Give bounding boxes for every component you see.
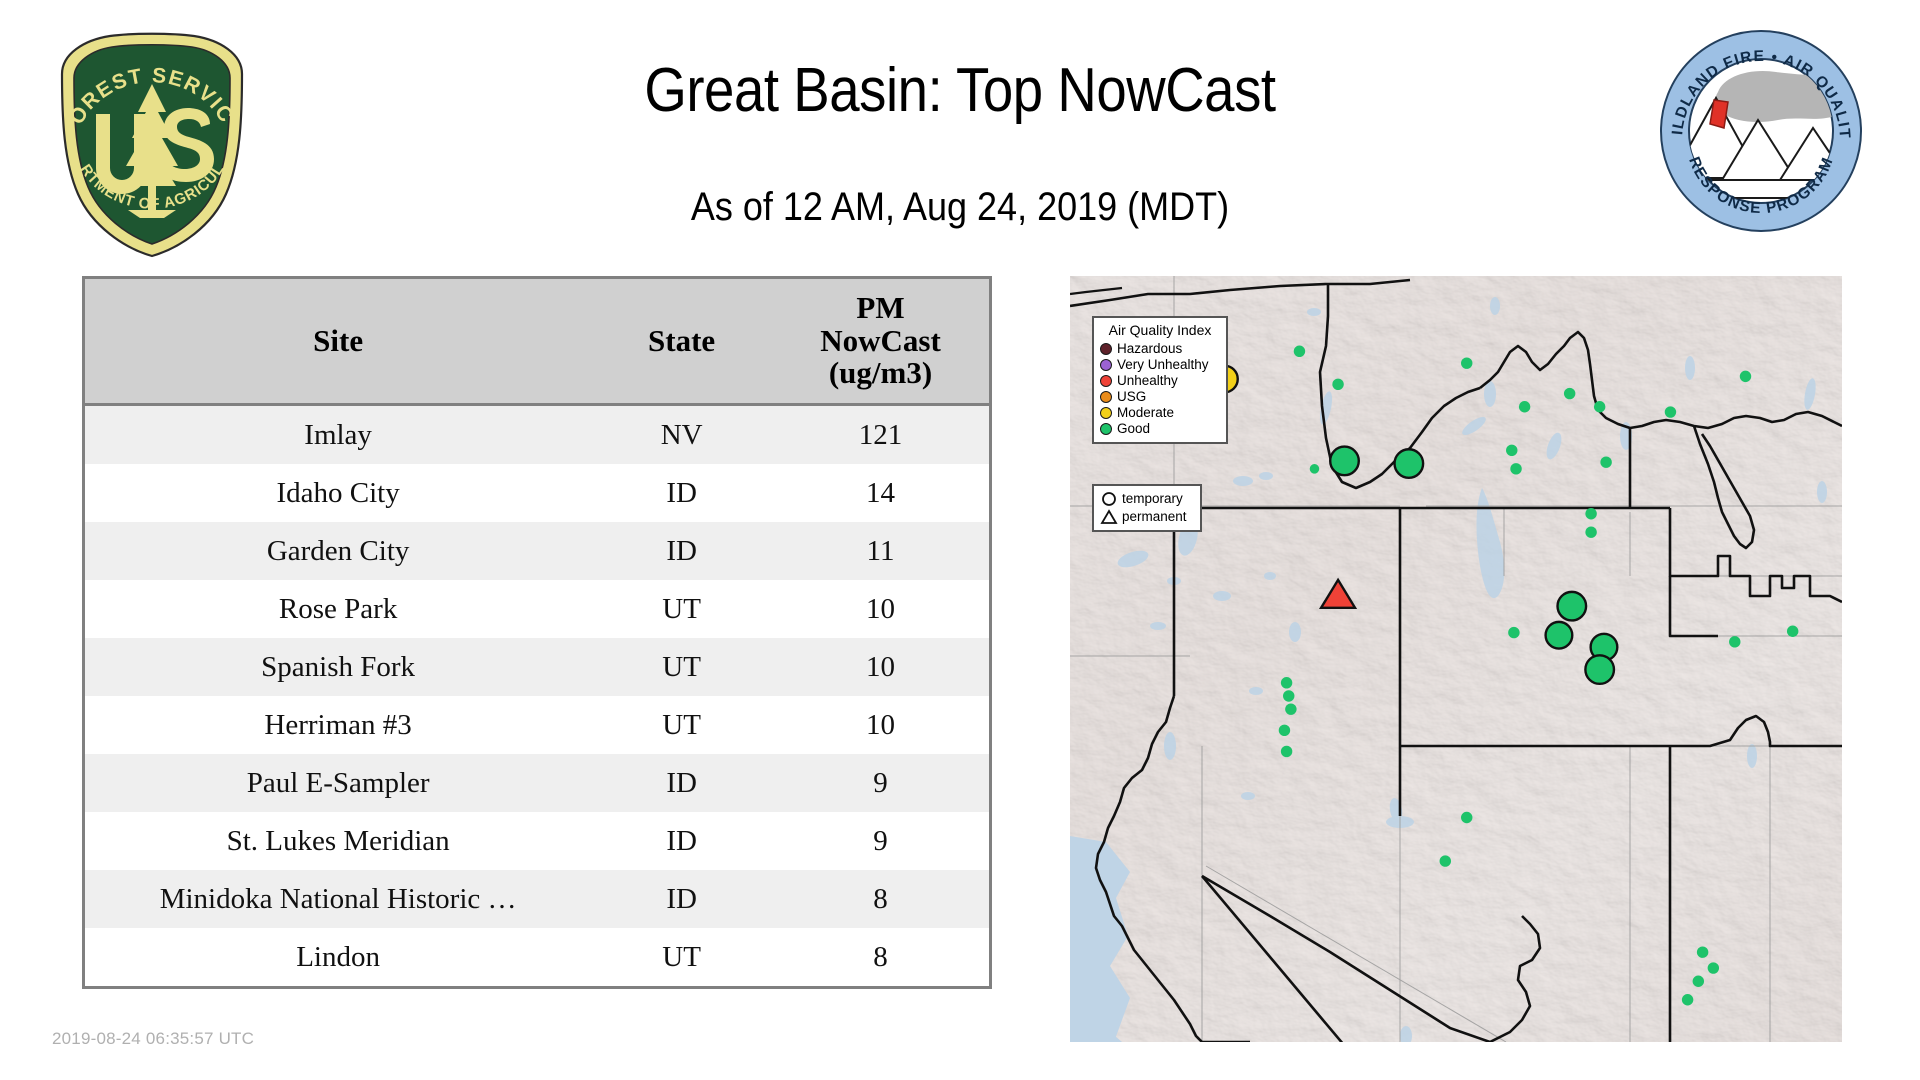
- cell-state: ID: [591, 464, 772, 522]
- monitor-marker[interactable]: [1564, 388, 1575, 399]
- legend-item-hazardous: Hazardous: [1100, 341, 1220, 357]
- legend-item-very-unhealthy: Very Unhealthy: [1100, 357, 1220, 373]
- monitor-marker[interactable]: [1585, 508, 1596, 519]
- monitor-marker[interactable]: [1682, 994, 1693, 1005]
- column-header-site[interactable]: Site: [85, 279, 591, 405]
- monitor-type-legend: temporary permanent: [1092, 484, 1202, 532]
- legend-label-very-unhealthy: Very Unhealthy: [1117, 357, 1209, 373]
- cell-state: UT: [591, 580, 772, 638]
- legend-item-temporary: temporary: [1100, 490, 1194, 508]
- cell-state: NV: [591, 405, 772, 465]
- pm-header-line-3: (ug/m3): [772, 357, 989, 390]
- table-header-row: Site State PM NowCast (ug/m3): [85, 279, 989, 405]
- table-row[interactable]: Imlay NV 121: [85, 405, 989, 465]
- monitor-marker[interactable]: [1279, 725, 1290, 736]
- table-row[interactable]: Herriman #3 UT 10: [85, 696, 989, 754]
- table-row[interactable]: Paul E-Sampler ID 9: [85, 754, 989, 812]
- pm-header-line-1: PM: [772, 292, 989, 325]
- monitor-marker[interactable]: [1740, 371, 1751, 382]
- monitor-marker[interactable]: [1283, 690, 1294, 701]
- monitor-marker[interactable]: [1281, 677, 1292, 688]
- footer-timestamp: 2019-08-24 06:35:57 UTC: [52, 1029, 254, 1049]
- monitor-marker[interactable]: [1508, 627, 1519, 638]
- table-body: Imlay NV 121 Idaho City ID 14 Garden Cit…: [85, 405, 989, 987]
- cell-site: Paul E-Sampler: [85, 754, 591, 812]
- table-head: Site State PM NowCast (ug/m3): [85, 279, 989, 405]
- legend-swatch-good: [1100, 423, 1112, 435]
- legend-label-moderate: Moderate: [1117, 405, 1174, 421]
- monitor-marker[interactable]: [1294, 346, 1305, 357]
- table-row[interactable]: Garden City ID 11: [85, 522, 989, 580]
- monitor-marker[interactable]: [1285, 703, 1296, 714]
- aqi-legend: Air Quality Index Hazardous Very Unhealt…: [1092, 316, 1228, 444]
- legend-item-good: Good: [1100, 421, 1220, 437]
- monitor-marker[interactable]: [1729, 636, 1740, 647]
- legend-item-unhealthy: Unhealthy: [1100, 373, 1220, 389]
- cell-state: UT: [591, 638, 772, 696]
- legend-label-hazardous: Hazardous: [1117, 341, 1182, 357]
- aqi-legend-title: Air Quality Index: [1100, 323, 1220, 338]
- legend-item-permanent: permanent: [1100, 508, 1194, 526]
- circle-icon: [1100, 491, 1118, 507]
- monitor-marker[interactable]: [1546, 622, 1573, 649]
- monitor-marker[interactable]: [1510, 463, 1521, 474]
- cell-site: Imlay: [85, 405, 591, 465]
- table-row[interactable]: Idaho City ID 14: [85, 464, 989, 522]
- legend-label-temporary: temporary: [1122, 491, 1183, 507]
- cell-pm: 8: [772, 870, 989, 928]
- table-row[interactable]: Minidoka National Historic … ID 8: [85, 870, 989, 928]
- legend-label-permanent: permanent: [1122, 509, 1187, 525]
- table-row[interactable]: Rose Park UT 10: [85, 580, 989, 638]
- cell-site: Herriman #3: [85, 696, 591, 754]
- monitor-marker[interactable]: [1558, 592, 1587, 621]
- cell-state: UT: [591, 928, 772, 986]
- monitor-marker[interactable]: [1506, 445, 1517, 456]
- cell-pm: 11: [772, 522, 989, 580]
- monitor-marker[interactable]: [1697, 946, 1708, 957]
- monitor-marker[interactable]: [1693, 976, 1704, 987]
- monitor-marker[interactable]: [1594, 401, 1605, 412]
- legend-swatch-moderate: [1100, 407, 1112, 419]
- monitor-marker[interactable]: [1461, 812, 1472, 823]
- monitor-marker[interactable]: [1519, 401, 1530, 412]
- monitor-marker[interactable]: [1585, 526, 1596, 537]
- monitor-marker[interactable]: [1787, 626, 1798, 637]
- monitor-marker[interactable]: [1440, 855, 1451, 866]
- legend-swatch-hazardous: [1100, 343, 1112, 355]
- legend-label-good: Good: [1117, 421, 1150, 437]
- nowcast-table: Site State PM NowCast (ug/m3) Imlay NV 1…: [85, 279, 989, 986]
- legend-label-usg: USG: [1117, 389, 1146, 405]
- column-header-pm-nowcast[interactable]: PM NowCast (ug/m3): [772, 279, 989, 405]
- table-row[interactable]: St. Lukes Meridian ID 9: [85, 812, 989, 870]
- cell-pm: 10: [772, 638, 989, 696]
- monitor-marker[interactable]: [1461, 357, 1472, 368]
- legend-swatch-usg: [1100, 391, 1112, 403]
- legend-item-usg: USG: [1100, 389, 1220, 405]
- column-header-state[interactable]: State: [591, 279, 772, 405]
- triangle-icon: [1100, 509, 1118, 525]
- monitor-marker[interactable]: [1665, 406, 1676, 417]
- cell-site: Rose Park: [85, 580, 591, 638]
- cell-site: Garden City: [85, 522, 591, 580]
- cell-state: ID: [591, 522, 772, 580]
- cell-site: St. Lukes Meridian: [85, 812, 591, 870]
- page-subtitle: As of 12 AM, Aug 24, 2019 (MDT): [96, 185, 1824, 230]
- legend-swatch-very-unhealthy: [1100, 359, 1112, 371]
- cell-site: Idaho City: [85, 464, 591, 522]
- monitor-marker[interactable]: [1330, 447, 1359, 476]
- cell-pm: 9: [772, 754, 989, 812]
- monitor-marker[interactable]: [1395, 449, 1424, 478]
- cell-state: ID: [591, 870, 772, 928]
- cell-pm: 10: [772, 580, 989, 638]
- cell-state: ID: [591, 754, 772, 812]
- cell-state: UT: [591, 696, 772, 754]
- cell-site: Minidoka National Historic …: [85, 870, 591, 928]
- cell-pm: 10: [772, 696, 989, 754]
- cell-pm: 121: [772, 405, 989, 465]
- monitor-marker[interactable]: [1585, 655, 1614, 684]
- monitor-marker[interactable]: [1332, 379, 1343, 390]
- cell-state: ID: [591, 812, 772, 870]
- table-row[interactable]: Lindon UT 8: [85, 928, 989, 986]
- cell-pm: 9: [772, 812, 989, 870]
- monitor-marker[interactable]: [1708, 962, 1719, 973]
- legend-swatch-unhealthy: [1100, 375, 1112, 387]
- cell-site: Spanish Fork: [85, 638, 591, 696]
- legend-label-unhealthy: Unhealthy: [1117, 373, 1178, 389]
- pm-header-line-2: NowCast: [772, 325, 989, 358]
- monitor-map[interactable]: Air Quality Index Hazardous Very Unhealt…: [1070, 276, 1842, 1042]
- monitor-marker[interactable]: [1600, 456, 1611, 467]
- table-row[interactable]: Spanish Fork UT 10: [85, 638, 989, 696]
- nowcast-table-container: Site State PM NowCast (ug/m3) Imlay NV 1…: [82, 276, 992, 989]
- cell-site: Lindon: [85, 928, 591, 986]
- legend-item-moderate: Moderate: [1100, 405, 1220, 421]
- cell-pm: 8: [772, 928, 989, 986]
- monitor-marker[interactable]: [1310, 464, 1320, 474]
- cell-pm: 14: [772, 464, 989, 522]
- monitor-marker[interactable]: [1281, 746, 1292, 757]
- page-title: Great Basin: Top NowCast: [115, 55, 1805, 126]
